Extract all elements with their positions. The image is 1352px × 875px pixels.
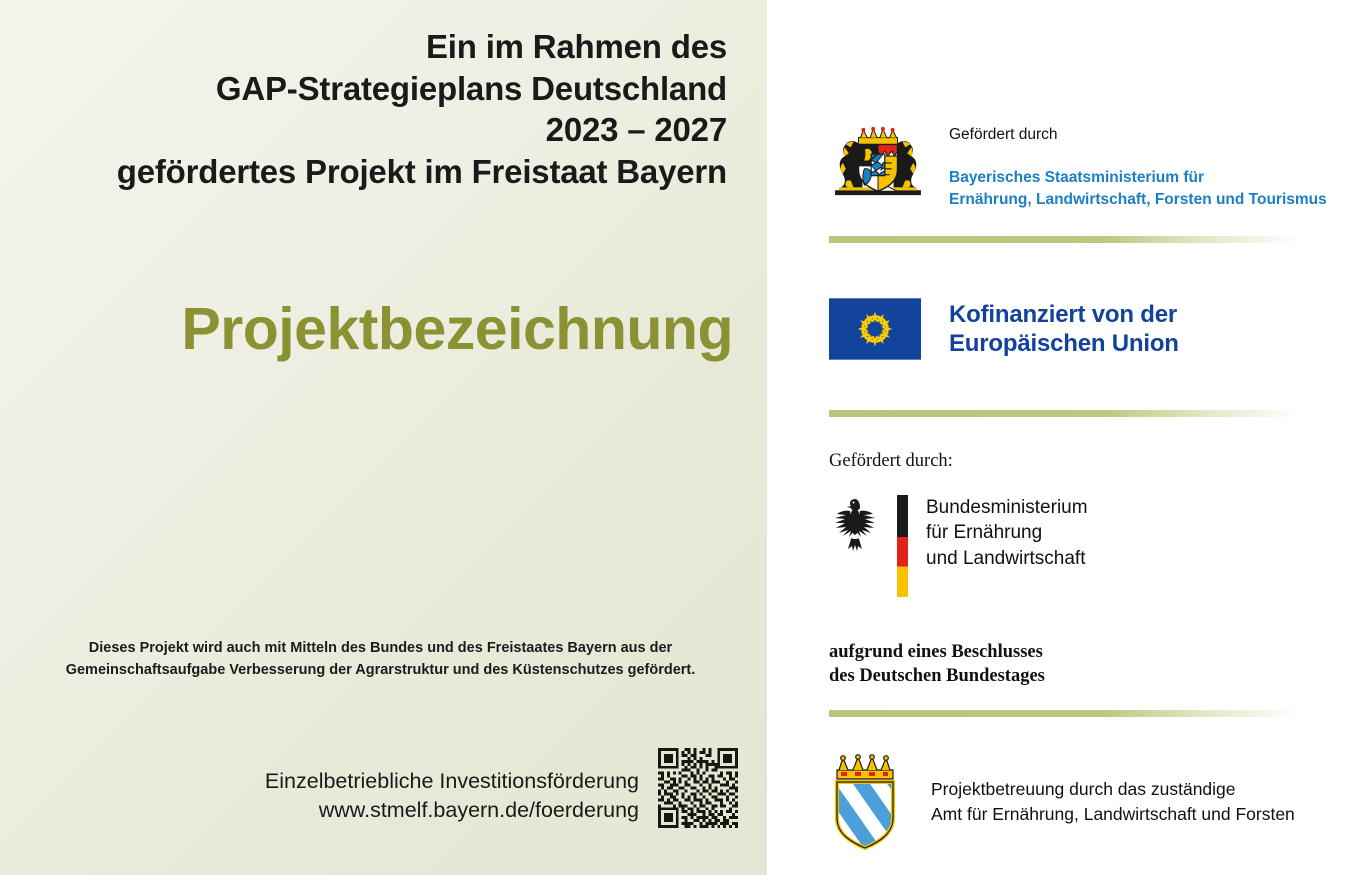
page-title: Projektbezeichnung <box>0 300 733 359</box>
footer-text: Einzelbetriebliche Investitionsförderung… <box>265 767 639 825</box>
federal-ministry-block: Bundesministerium für Ernährung und Land… <box>829 495 1088 597</box>
poster-root: Ein im Rahmen des GAP-Strategieplans Deu… <box>0 0 1352 875</box>
footer-block: Einzelbetriebliche Investitionsförderung… <box>0 753 767 845</box>
federal-funded-by-label: Gefördert durch: <box>829 450 953 472</box>
crown <box>859 127 898 145</box>
left-panel: Ein im Rahmen des GAP-Strategieplans Deu… <box>0 0 767 875</box>
bavarian-ministry-text: Gefördert durch Bayerisches Staatsminist… <box>949 122 1327 212</box>
bavarian-ministry-name: Bayerisches Staatsministerium für Ernähr… <box>949 167 1327 212</box>
separator-1 <box>829 236 1301 243</box>
separator-3 <box>829 710 1301 717</box>
bundestag-note: aufgrund eines Beschlusses des Deutschen… <box>829 640 1045 689</box>
project-support-text: Projektbetreuung durch das zuständige Am… <box>931 777 1295 827</box>
bavarian-ministry-block: Gefördert durch Bayerisches Staatsminist… <box>829 122 1327 212</box>
separator-2 <box>829 410 1301 417</box>
funding-note: Dieses Projekt wird auch mit Mitteln des… <box>20 638 741 682</box>
eu-cofinanced-text: Kofinanziert von der Europäischen Union <box>949 300 1179 359</box>
funded-by-label: Gefördert durch <box>949 126 1327 145</box>
right-panel: Gefördert durch Bayerisches Staatsminist… <box>767 0 1352 875</box>
german-flag-bar-icon <box>897 495 908 597</box>
federal-ministry-name: Bundesministerium für Ernährung und Land… <box>926 495 1088 571</box>
bavarian-coat-of-arms-icon <box>829 122 927 200</box>
european-union-block: Kofinanziert von der Europäischen Union <box>829 298 1179 360</box>
qr-code-icon <box>655 745 741 831</box>
bavarian-shield-icon <box>829 752 901 852</box>
federal-eagle-icon <box>829 495 881 557</box>
project-support-block: Projektbetreuung durch das zuständige Am… <box>829 752 1295 852</box>
headline: Ein im Rahmen des GAP-Strategieplans Deu… <box>0 26 727 192</box>
eu-flag-icon <box>829 298 921 360</box>
